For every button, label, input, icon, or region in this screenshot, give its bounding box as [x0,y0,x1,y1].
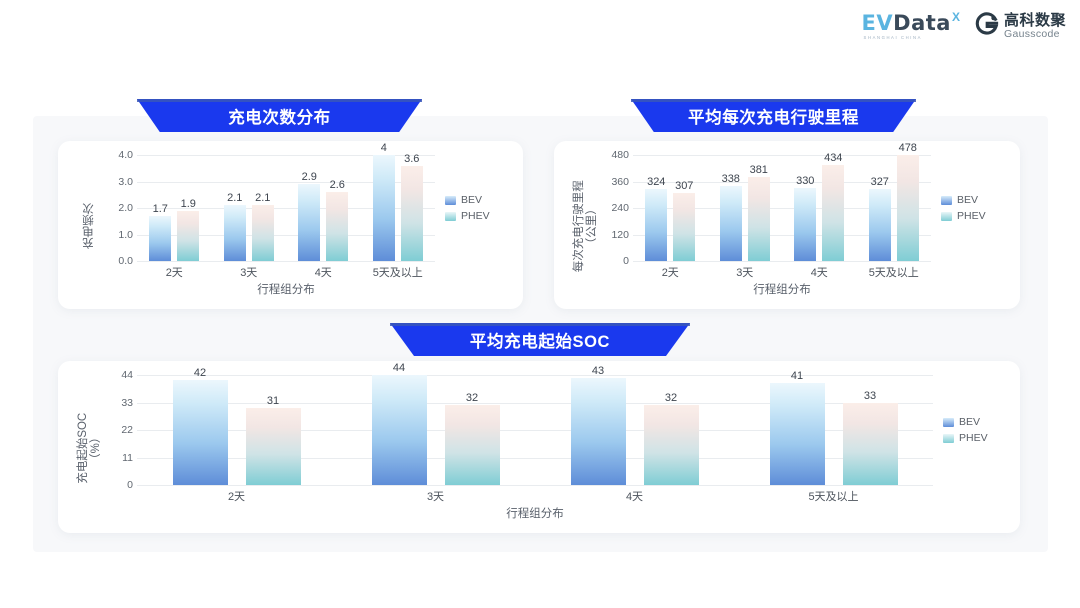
bar-rect-bev[interactable] [645,189,667,261]
y-axis: 443322110 [105,375,137,485]
bar-pair: 4432 [372,375,500,485]
legend-item-phev[interactable]: PHEV [941,210,1001,222]
legend-swatch-icon [941,212,952,221]
bar-value-label: 31 [267,395,279,407]
legend-item-phev[interactable]: PHEV [445,210,505,222]
x-axis-tick-label: 4天 [286,261,361,279]
plot-area: 1.71.92.12.12.92.643.6 [137,155,435,261]
bar-rect-bev[interactable] [794,188,816,261]
y-axis-tick-label: 11 [122,452,133,464]
legend-swatch-icon [943,434,954,443]
bar-rect-phev[interactable] [246,408,301,486]
plot-row: 4433221104231443243324133BEVPHEV [105,375,1003,485]
bar-value-label: 2.1 [255,192,270,204]
bar-rect-phev[interactable] [822,165,844,261]
x-axis-tick-label: 3天 [708,261,783,279]
bar-group: 324307 [633,155,708,261]
bar-phev[interactable]: 478 [897,155,919,261]
x-axis-tick-label: 5天及以上 [734,485,933,503]
y-axis-title-text: 每次充电行驶里程（公里） [573,180,599,272]
x-axis-tick-label: 2天 [633,261,708,279]
bar-pair: 43.6 [373,155,423,261]
legend-item-phev[interactable]: PHEV [943,432,1003,444]
bar-bev[interactable]: 338 [720,155,742,261]
bar-value-label: 2.1 [227,192,242,204]
legend-label: PHEV [957,210,986,222]
evdata-logo: EVData X SHANGHAI CHINA [862,13,960,40]
bar-value-label: 381 [750,164,768,176]
bar-phev[interactable]: 2.6 [326,155,348,261]
bar-group-container: 4231443243324133 [137,375,933,485]
bar-value-label: 32 [665,392,677,404]
bar-rect-phev[interactable] [673,193,695,261]
bar-value-label: 434 [824,152,842,164]
evdata-logo-superscript: X [952,11,960,23]
bar-value-label: 3.6 [404,153,419,165]
bar-value-label: 338 [722,173,740,185]
bar-bev[interactable]: 43 [571,375,626,485]
bar-group: 338381 [708,155,783,261]
y-axis-tick-label: 0 [127,479,133,491]
bar-value-label: 327 [871,176,889,188]
bar-group: 2.12.1 [212,155,287,261]
banner-avg-start-soc: 平均充电起始SOC [390,323,690,356]
slide-page: EVData X SHANGHAI CHINA 高科数聚 Gausscode [0,0,1080,608]
bar-phev[interactable]: 307 [673,155,695,261]
legend-item-bev[interactable]: BEV [943,416,1003,428]
bar-group: 4332 [535,375,734,485]
y-axis-title: 充电起始SOC（%） [75,375,105,521]
bar-value-label: 43 [592,365,604,377]
chart-legend: BEVPHEV [931,155,1001,261]
bar-bev[interactable]: 1.7 [149,155,171,261]
evdata-logo-text-ev: EV [862,11,894,35]
x-axis-tick-label: 5天及以上 [857,261,932,279]
bar-rect-phev[interactable] [252,205,274,261]
bar-rect-phev[interactable] [326,192,348,261]
banner-charging-frequency: 充电次数分布 [137,99,422,132]
banner-title: 平均每次充电行驶里程 [631,99,916,132]
x-axis-tick-label: 4天 [782,261,857,279]
gausscode-logo-chinese: 高科数聚 [1004,13,1066,29]
legend-label: BEV [461,194,482,206]
bar-rect-phev[interactable] [748,177,770,261]
legend-label: PHEV [461,210,490,222]
legend-label: BEV [959,416,980,428]
bar-pair: 327478 [869,155,919,261]
gridline [137,261,435,262]
bar-pair: 4133 [770,375,898,485]
bar-pair: 1.71.9 [149,155,199,261]
bar-pair: 330434 [794,155,844,261]
y-axis-tick-label: 33 [121,397,133,409]
bar-rect-phev[interactable] [897,155,919,261]
bar-group: 330434 [782,155,857,261]
bar-group: 327478 [857,155,932,261]
bar-rect-bev[interactable] [173,380,228,485]
plot-column: 4433221104231443243324133BEVPHEV2天3天4天5天… [105,375,1003,521]
bar-pair: 4332 [571,375,699,485]
evdata-logo-text-data: Data [893,11,951,35]
y-axis-tick-label: 480 [611,149,629,161]
y-axis: 4.03.02.01.00.0 [105,155,137,261]
plot-column: 4803602401200324307338381330434327478BEV… [601,155,1001,297]
bar-chart-avg-distance: 每次充电行驶里程（公里）4803602401200324307338381330… [571,155,1001,297]
y-axis-tick-label: 1.0 [118,229,133,241]
legend-item-bev[interactable]: BEV [445,194,505,206]
bar-bev[interactable]: 2.1 [224,155,246,261]
y-axis-tick-label: 3.0 [118,176,133,188]
y-axis: 4803602401200 [601,155,633,261]
x-axis-tick-label: 3天 [336,485,535,503]
bar-rect-bev[interactable] [149,216,171,261]
bar-rect-bev[interactable] [372,375,427,485]
legend-label: PHEV [959,432,988,444]
bar-rect-phev[interactable] [177,211,199,261]
bar-value-label: 2.9 [302,171,317,183]
bar-value-label: 1.7 [153,203,168,215]
evdata-logo-wordmark: EVData X [862,13,960,34]
bar-value-label: 44 [393,362,405,374]
header-logo-group: EVData X SHANGHAI CHINA 高科数聚 Gausscode [862,12,1066,42]
gausscode-logo-english: Gausscode [1004,29,1066,40]
bar-phev[interactable]: 381 [748,155,770,261]
bar-group: 1.71.9 [137,155,212,261]
y-axis-tick-label: 120 [611,229,629,241]
x-axis-tick-label: 3天 [212,261,287,279]
bar-value-label: 330 [796,175,814,187]
bar-value-label: 324 [647,176,665,188]
bar-pair: 338381 [720,155,770,261]
legend-swatch-icon [943,418,954,427]
bar-phev[interactable]: 33 [843,375,898,485]
legend-label: BEV [957,194,978,206]
bar-pair: 2.12.1 [224,155,274,261]
bar-value-label: 307 [675,180,693,192]
bar-value-label: 1.9 [181,198,196,210]
bar-rect-phev[interactable] [445,405,500,485]
bar-chart-charging-frequency: 充电频次4.03.02.01.00.01.71.92.12.12.92.643.… [75,155,505,297]
plot-area: 4231443243324133 [137,375,933,485]
y-axis-tick-label: 240 [611,202,629,214]
bar-rect-bev[interactable] [298,184,320,261]
x-axis: 2天3天4天5天及以上 [137,261,435,279]
plot-row: 4.03.02.01.00.01.71.92.12.12.92.643.6BEV… [105,155,505,261]
banner-avg-distance: 平均每次充电行驶里程 [631,99,916,132]
bar-bev[interactable]: 327 [869,155,891,261]
bar-rect-bev[interactable] [770,383,825,486]
bar-phev[interactable]: 1.9 [177,155,199,261]
x-axis-title: 行程组分布 [137,279,435,297]
bar-value-label: 478 [899,142,917,154]
gausscode-logo-text: 高科数聚 Gausscode [1004,13,1066,41]
bar-chart-avg-start-soc: 充电起始SOC（%）4433221104231443243324133BEVPH… [75,375,1003,521]
bar-group: 4432 [336,375,535,485]
bar-pair: 2.92.6 [298,155,348,261]
bar-group: 43.6 [361,155,436,261]
bar-phev[interactable]: 31 [246,375,301,485]
bar-value-label: 4 [381,142,387,154]
legend-item-bev[interactable]: BEV [941,194,1001,206]
bar-bev[interactable]: 44 [372,375,427,485]
y-axis-tick-label: 0.0 [118,255,133,267]
bar-value-label: 41 [791,370,803,382]
bar-phev[interactable]: 2.1 [252,155,274,261]
bar-bev[interactable]: 42 [173,375,228,485]
bar-rect-phev[interactable] [401,166,423,261]
x-axis-tick-label: 5天及以上 [361,261,436,279]
x-axis-title: 行程组分布 [633,279,931,297]
y-axis-title: 充电频次 [75,155,105,297]
bar-rect-bev[interactable] [571,378,626,486]
x-axis-tick-label: 4天 [535,485,734,503]
evdata-logo-text: EVData [862,13,951,34]
bar-group-container: 324307338381330434327478 [633,155,931,261]
bar-bev[interactable]: 2.9 [298,155,320,261]
bar-pair: 4231 [173,375,301,485]
bar-group: 4231 [137,375,336,485]
bar-value-label: 33 [864,390,876,402]
y-axis-tick-label: 44 [121,369,133,381]
x-axis-tick-label: 2天 [137,261,212,279]
bar-phev[interactable]: 32 [644,375,699,485]
y-axis-title-text: 充电频次 [83,203,96,249]
y-axis-title-text: 充电起始SOC（%） [77,413,103,484]
plot-column: 4.03.02.01.00.01.71.92.12.12.92.643.6BEV… [105,155,505,297]
bar-bev[interactable]: 41 [770,375,825,485]
bar-pair: 324307 [645,155,695,261]
bar-rect-bev[interactable] [720,186,742,261]
bar-group: 4133 [734,375,933,485]
bar-group: 2.92.6 [286,155,361,261]
bar-rect-bev[interactable] [869,189,891,261]
gridline [137,485,933,486]
legend-swatch-icon [445,212,456,221]
bar-rect-phev[interactable] [644,405,699,485]
bar-phev[interactable]: 32 [445,375,500,485]
gausscode-logo: 高科数聚 Gausscode [974,12,1066,42]
plot-area: 324307338381330434327478 [633,155,931,261]
plot-row: 4803602401200324307338381330434327478BEV… [601,155,1001,261]
x-axis-title: 行程组分布 [137,503,933,521]
x-axis-tick-label: 2天 [137,485,336,503]
bar-rect-bev[interactable] [373,155,395,261]
bar-bev[interactable]: 324 [645,155,667,261]
y-axis-title: 每次充电行驶里程（公里） [571,155,601,297]
banner-title: 充电次数分布 [137,99,422,132]
y-axis-tick-label: 22 [121,424,133,436]
chart-legend: BEVPHEV [933,375,1003,485]
y-axis-tick-label: 4.0 [118,149,133,161]
bar-phev[interactable]: 434 [822,155,844,261]
bar-rect-bev[interactable] [224,205,246,261]
bar-value-label: 32 [466,392,478,404]
y-axis-tick-label: 2.0 [118,202,133,214]
legend-swatch-icon [941,196,952,205]
bar-bev[interactable]: 330 [794,155,816,261]
bar-phev[interactable]: 3.6 [401,155,423,261]
bar-rect-phev[interactable] [843,403,898,486]
chart-legend: BEVPHEV [435,155,505,261]
x-axis: 2天3天4天5天及以上 [137,485,933,503]
bar-value-label: 2.6 [330,179,345,191]
legend-swatch-icon [445,196,456,205]
banner-title: 平均充电起始SOC [390,323,690,356]
bar-bev[interactable]: 4 [373,155,395,261]
gridline [633,261,931,262]
evdata-logo-subtitle: SHANGHAI CHINA [864,36,922,40]
x-axis: 2天3天4天5天及以上 [633,261,931,279]
y-axis-tick-label: 360 [611,176,629,188]
bar-group-container: 1.71.92.12.12.92.643.6 [137,155,435,261]
bar-value-label: 42 [194,367,206,379]
gausscode-mark-icon [974,12,999,42]
y-axis-tick-label: 0 [623,255,629,267]
